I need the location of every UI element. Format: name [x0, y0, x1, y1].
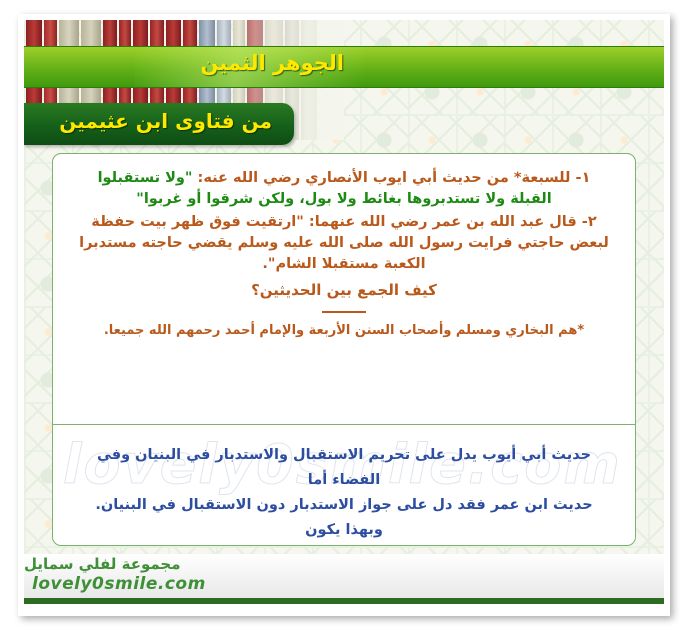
answer-line-3: مخصصا لحديث أبي أيوب.: [77, 543, 611, 546]
footer-arabic-label: مجموعة لفلي سمايل: [24, 555, 181, 573]
footer-site-url: lovely0smile.com: [32, 574, 206, 594]
answer-section: lovely0smile.com حديث أبي أيوب يدل على ت…: [53, 425, 635, 546]
question-item-1-number: ١-: [576, 170, 591, 186]
question-prompt: كيف الجمع بين الحديثين؟: [75, 281, 613, 299]
content-sheet: الجوهر الثمين من فتاوى ابن عثيمين ١- للس…: [24, 20, 664, 595]
question-item-2: ٢- قال عبد الله بن عمر رضي الله عنهما: "…: [75, 212, 613, 275]
question-item-1: ١- للسبعة* من حديث أبي ايوب الأنصاري رضي…: [75, 168, 613, 210]
page-root: الجوهر الثمين من فتاوى ابن عثيمين ١- للس…: [0, 0, 692, 632]
question-section: ١- للسبعة* من حديث أبي ايوب الأنصاري رضي…: [53, 154, 635, 402]
page-title: الجوهر الثمين: [200, 51, 344, 75]
title-banner: الجوهر الثمين: [24, 46, 664, 88]
footnote-separator: [322, 311, 366, 313]
answer-line-2: حديث ابن عمر فقد دل على جواز الاستدبار د…: [77, 493, 611, 543]
footer-green-bar: [24, 598, 664, 604]
question-item-2-number: ٢-: [582, 214, 597, 230]
subtitle-badge: من فتاوى ابن عثيمين: [24, 103, 294, 145]
subtitle-label: من فتاوى ابن عثيمين: [59, 109, 272, 133]
footnote-text: *هم البخاري ومسلم وأصحاب السنن الأربعة و…: [75, 323, 613, 338]
question-item-2-lead: قال عبد الله بن عمر رضي الله عنهما:: [309, 214, 577, 230]
content-card: ١- للسبعة* من حديث أبي ايوب الأنصاري رضي…: [52, 153, 636, 546]
answer-line-1: حديث أبي أيوب يدل على تحريم الاستقبال وا…: [77, 443, 611, 493]
question-item-1-lead: للسبعة* من حديث أبي ايوب الأنصاري رضي ال…: [198, 170, 571, 186]
